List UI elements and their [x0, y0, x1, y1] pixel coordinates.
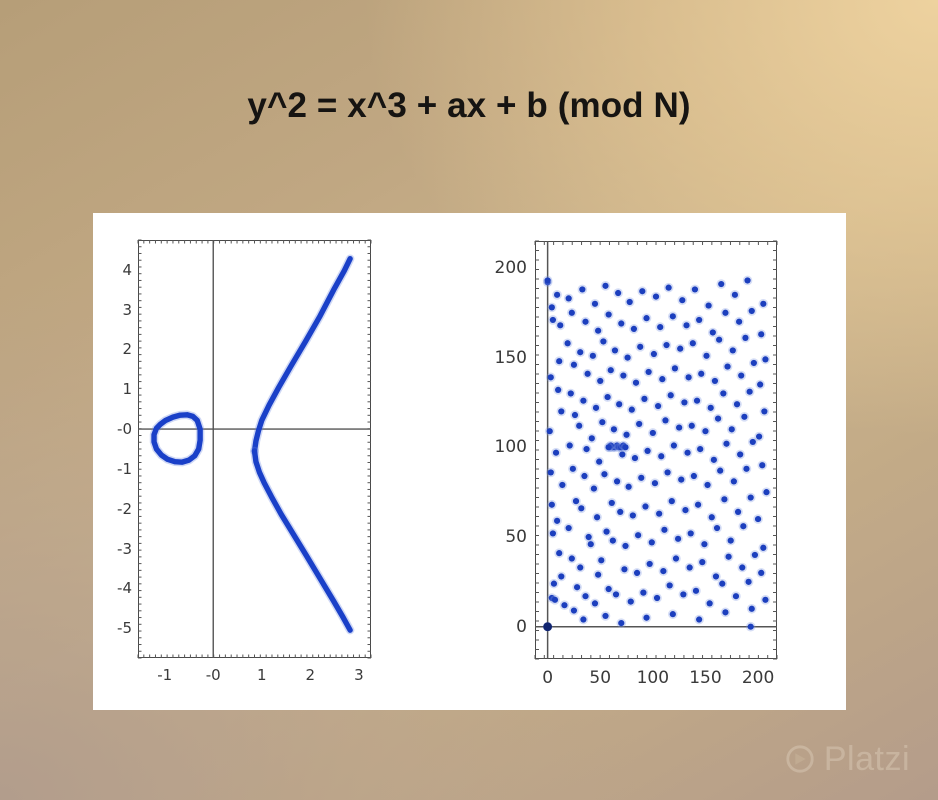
left-x-tick-label: 2	[293, 666, 327, 684]
watermark: Platzi	[785, 742, 910, 776]
left-y-tick-label: -3	[98, 540, 132, 558]
left-y-tick-label: -2	[98, 500, 132, 518]
right-y-tick-label: 200	[481, 258, 527, 278]
right-x-tick-label: 0	[525, 668, 571, 688]
left-x-tick-label: 3	[342, 666, 376, 684]
left-y-tick-label: -1	[98, 460, 132, 478]
right-x-tick-label: 200	[735, 668, 781, 688]
platzi-circle-icon	[785, 744, 815, 774]
figure-panel: 4321-0-1-2-3-4-5-1-0123 0501001502000501…	[93, 213, 846, 710]
left-x-tick-label: -1	[148, 666, 182, 684]
right-y-tick-label: 150	[481, 348, 527, 368]
left-y-tick-label: -0	[98, 420, 132, 438]
right-x-tick-label: 100	[630, 668, 676, 688]
chart-elliptic-curve-mod-n: 050100150200050100150200	[469, 213, 846, 710]
left-y-tick-label: 4	[98, 261, 132, 279]
chart-elliptic-curve-real: 4321-0-1-2-3-4-5-1-0123	[93, 213, 469, 710]
right-x-tick-label: 150	[682, 668, 728, 688]
watermark-label: Platzi	[824, 742, 910, 776]
left-y-tick-label: -5	[98, 619, 132, 637]
right-y-tick-label: 0	[481, 617, 527, 637]
left-x-tick-label: 1	[245, 666, 279, 684]
left-y-tick-label: 3	[98, 301, 132, 319]
right-y-tick-label: 50	[481, 527, 527, 547]
left-y-tick-label: -4	[98, 579, 132, 597]
left-y-tick-label: 2	[98, 340, 132, 358]
page-title: y^2 = x^3 + ax + b (mod N)	[0, 86, 938, 126]
left-y-tick-label: 1	[98, 380, 132, 398]
right-y-tick-label: 100	[481, 437, 527, 457]
left-x-tick-label: -0	[196, 666, 230, 684]
right-x-tick-label: 50	[577, 668, 623, 688]
left-plot-canvas	[93, 213, 469, 710]
